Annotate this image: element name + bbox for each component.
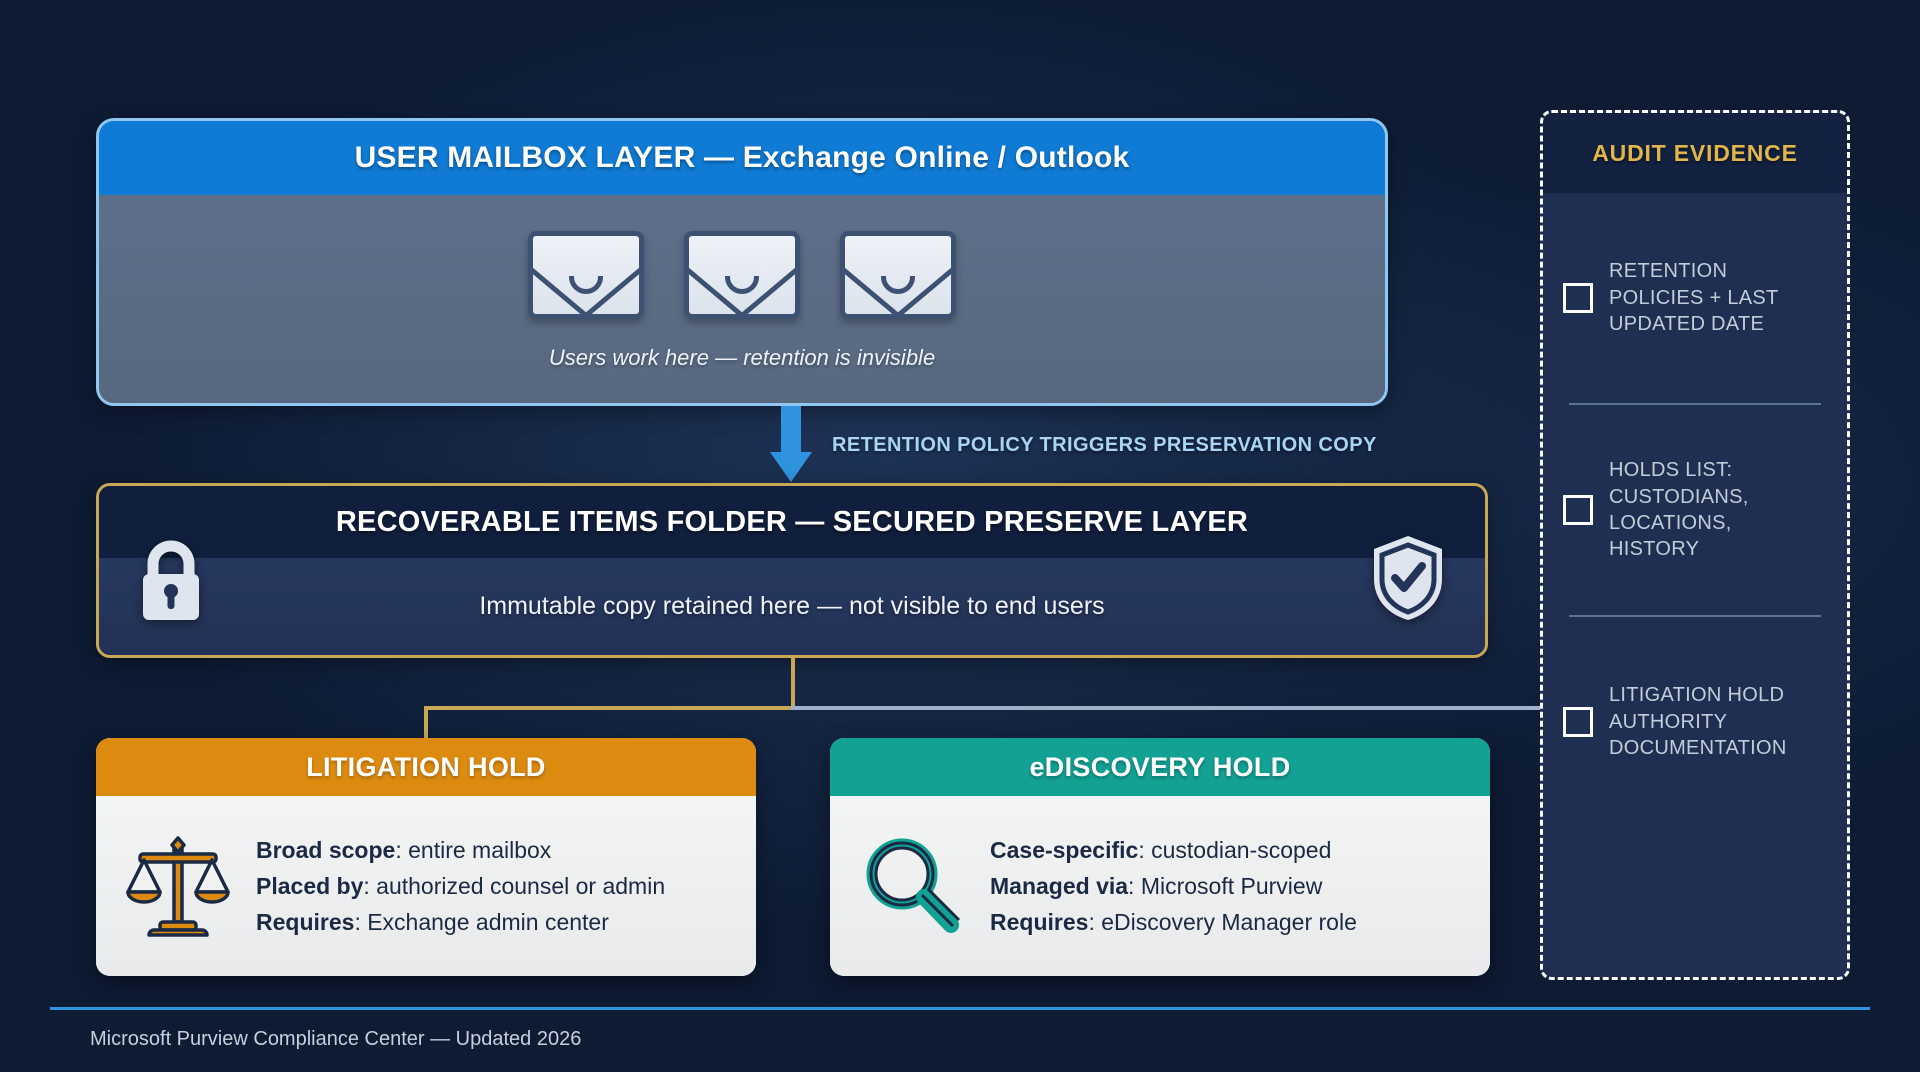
hold-line-value: : authorized counsel or admin — [363, 873, 665, 899]
mailbox-header: USER MAILBOX LAYER — Exchange Online / O… — [99, 121, 1385, 195]
footer-divider — [50, 1007, 1870, 1010]
hold-line-label: Placed by — [256, 873, 363, 899]
audit-evidence-item[interactable]: LITIGATION HOLD AUTHORITY DOCUMENTATION — [1563, 617, 1827, 827]
hold-line: Case-specific: custodian-scoped — [990, 837, 1357, 864]
magnifying-glass-icon — [856, 830, 968, 942]
audit-evidence-title: AUDIT EVIDENCE — [1543, 113, 1847, 193]
down-arrow-icon — [770, 406, 812, 482]
hold-line: Broad scope: entire mailbox — [256, 837, 665, 864]
hold-line-label: Case-specific — [990, 837, 1138, 863]
connector-horizontal-right — [791, 706, 1661, 710]
hold-line-value: : Microsoft Purview — [1128, 873, 1322, 899]
audit-evidence-item-label: HOLDS LIST: CUSTODIANS, LOCATIONS, HISTO… — [1609, 457, 1827, 563]
envelope-row — [528, 231, 956, 319]
envelope-icon — [528, 231, 644, 319]
mailbox-header-title: USER MAILBOX LAYER — Exchange Online / O… — [355, 141, 1130, 175]
litigation-hold-title: LITIGATION HOLD — [306, 752, 545, 783]
diagram-stage: USER MAILBOX LAYER — Exchange Online / O… — [0, 0, 1920, 1072]
hold-line: Requires: Exchange admin center — [256, 909, 665, 936]
ediscovery-hold-header: eDISCOVERY HOLD — [830, 738, 1490, 796]
ediscovery-hold-title: eDISCOVERY HOLD — [1029, 752, 1290, 783]
scales-of-justice-icon — [122, 830, 234, 942]
ediscovery-hold-card[interactable]: eDISCOVERY HOLD Case-specific: custodian… — [830, 738, 1490, 976]
audit-evidence-item-label: LITIGATION HOLD AUTHORITY DOCUMENTATION — [1609, 682, 1827, 761]
audit-evidence-item[interactable]: HOLDS LIST: CUSTODIANS, LOCATIONS, HISTO… — [1563, 405, 1827, 615]
preserve-layer-header: RECOVERABLE ITEMS FOLDER — SECURED PRESE… — [99, 486, 1485, 558]
footer-caption: Microsoft Purview Compliance Center — Up… — [90, 1028, 581, 1051]
recoverable-items-folder-panel: RECOVERABLE ITEMS FOLDER — SECURED PRESE… — [96, 483, 1488, 658]
ediscovery-hold-body: Case-specific: custodian-scoped Managed … — [830, 796, 1490, 976]
connector-stem — [791, 658, 795, 710]
connector-drop-litigation — [424, 706, 428, 738]
litigation-hold-card[interactable]: LITIGATION HOLD Broad scope: enti — [96, 738, 756, 976]
litigation-hold-lines: Broad scope: entire mailbox Placed by: a… — [256, 837, 665, 936]
audit-evidence-item[interactable]: RETENTION POLICIES + LAST UPDATED DATE — [1563, 193, 1827, 403]
litigation-hold-header: LITIGATION HOLD — [96, 738, 756, 796]
shield-check-icon — [1370, 533, 1446, 623]
preserve-layer-title: RECOVERABLE ITEMS FOLDER — SECURED PRESE… — [336, 506, 1248, 539]
hold-line: Requires: eDiscovery Manager role — [990, 909, 1357, 936]
mailbox-body: Users work here — retention is invisible — [99, 195, 1385, 406]
envelope-icon — [840, 231, 956, 319]
user-mailbox-layer-panel: USER MAILBOX LAYER — Exchange Online / O… — [96, 118, 1388, 406]
ediscovery-hold-lines: Case-specific: custodian-scoped Managed … — [990, 837, 1357, 936]
checkbox-icon[interactable] — [1563, 707, 1593, 737]
litigation-hold-body: Broad scope: entire mailbox Placed by: a… — [96, 796, 756, 976]
audit-evidence-list: RETENTION POLICIES + LAST UPDATED DATE H… — [1543, 193, 1847, 827]
hold-line: Placed by: authorized counsel or admin — [256, 873, 665, 900]
lock-icon — [136, 538, 206, 622]
hold-line-value: : eDiscovery Manager role — [1088, 909, 1356, 935]
hold-line-label: Managed via — [990, 873, 1128, 899]
mailbox-caption: Users work here — retention is invisible — [549, 345, 935, 371]
checkbox-icon[interactable] — [1563, 495, 1593, 525]
audit-evidence-item-label: RETENTION POLICIES + LAST UPDATED DATE — [1609, 258, 1827, 337]
hold-line-label: Requires — [256, 909, 354, 935]
preserve-layer-subtitle: Immutable copy retained here — not visib… — [479, 592, 1104, 621]
envelope-icon — [684, 231, 800, 319]
connector-horizontal-left — [424, 706, 794, 710]
hold-line-value: : entire mailbox — [395, 837, 551, 863]
hold-line-label: Broad scope — [256, 837, 395, 863]
preserve-layer-body: Immutable copy retained here — not visib… — [99, 558, 1485, 655]
checkbox-icon[interactable] — [1563, 283, 1593, 313]
audit-evidence-panel: AUDIT EVIDENCE RETENTION POLICIES + LAST… — [1540, 110, 1850, 980]
hold-line-value: : Exchange admin center — [354, 909, 608, 935]
hold-line-label: Requires — [990, 909, 1088, 935]
retention-policy-flow-label: RETENTION POLICY TRIGGERS PRESERVATION C… — [832, 434, 1377, 457]
hold-line-value: : custodian-scoped — [1138, 837, 1331, 863]
hold-line: Managed via: Microsoft Purview — [990, 873, 1357, 900]
